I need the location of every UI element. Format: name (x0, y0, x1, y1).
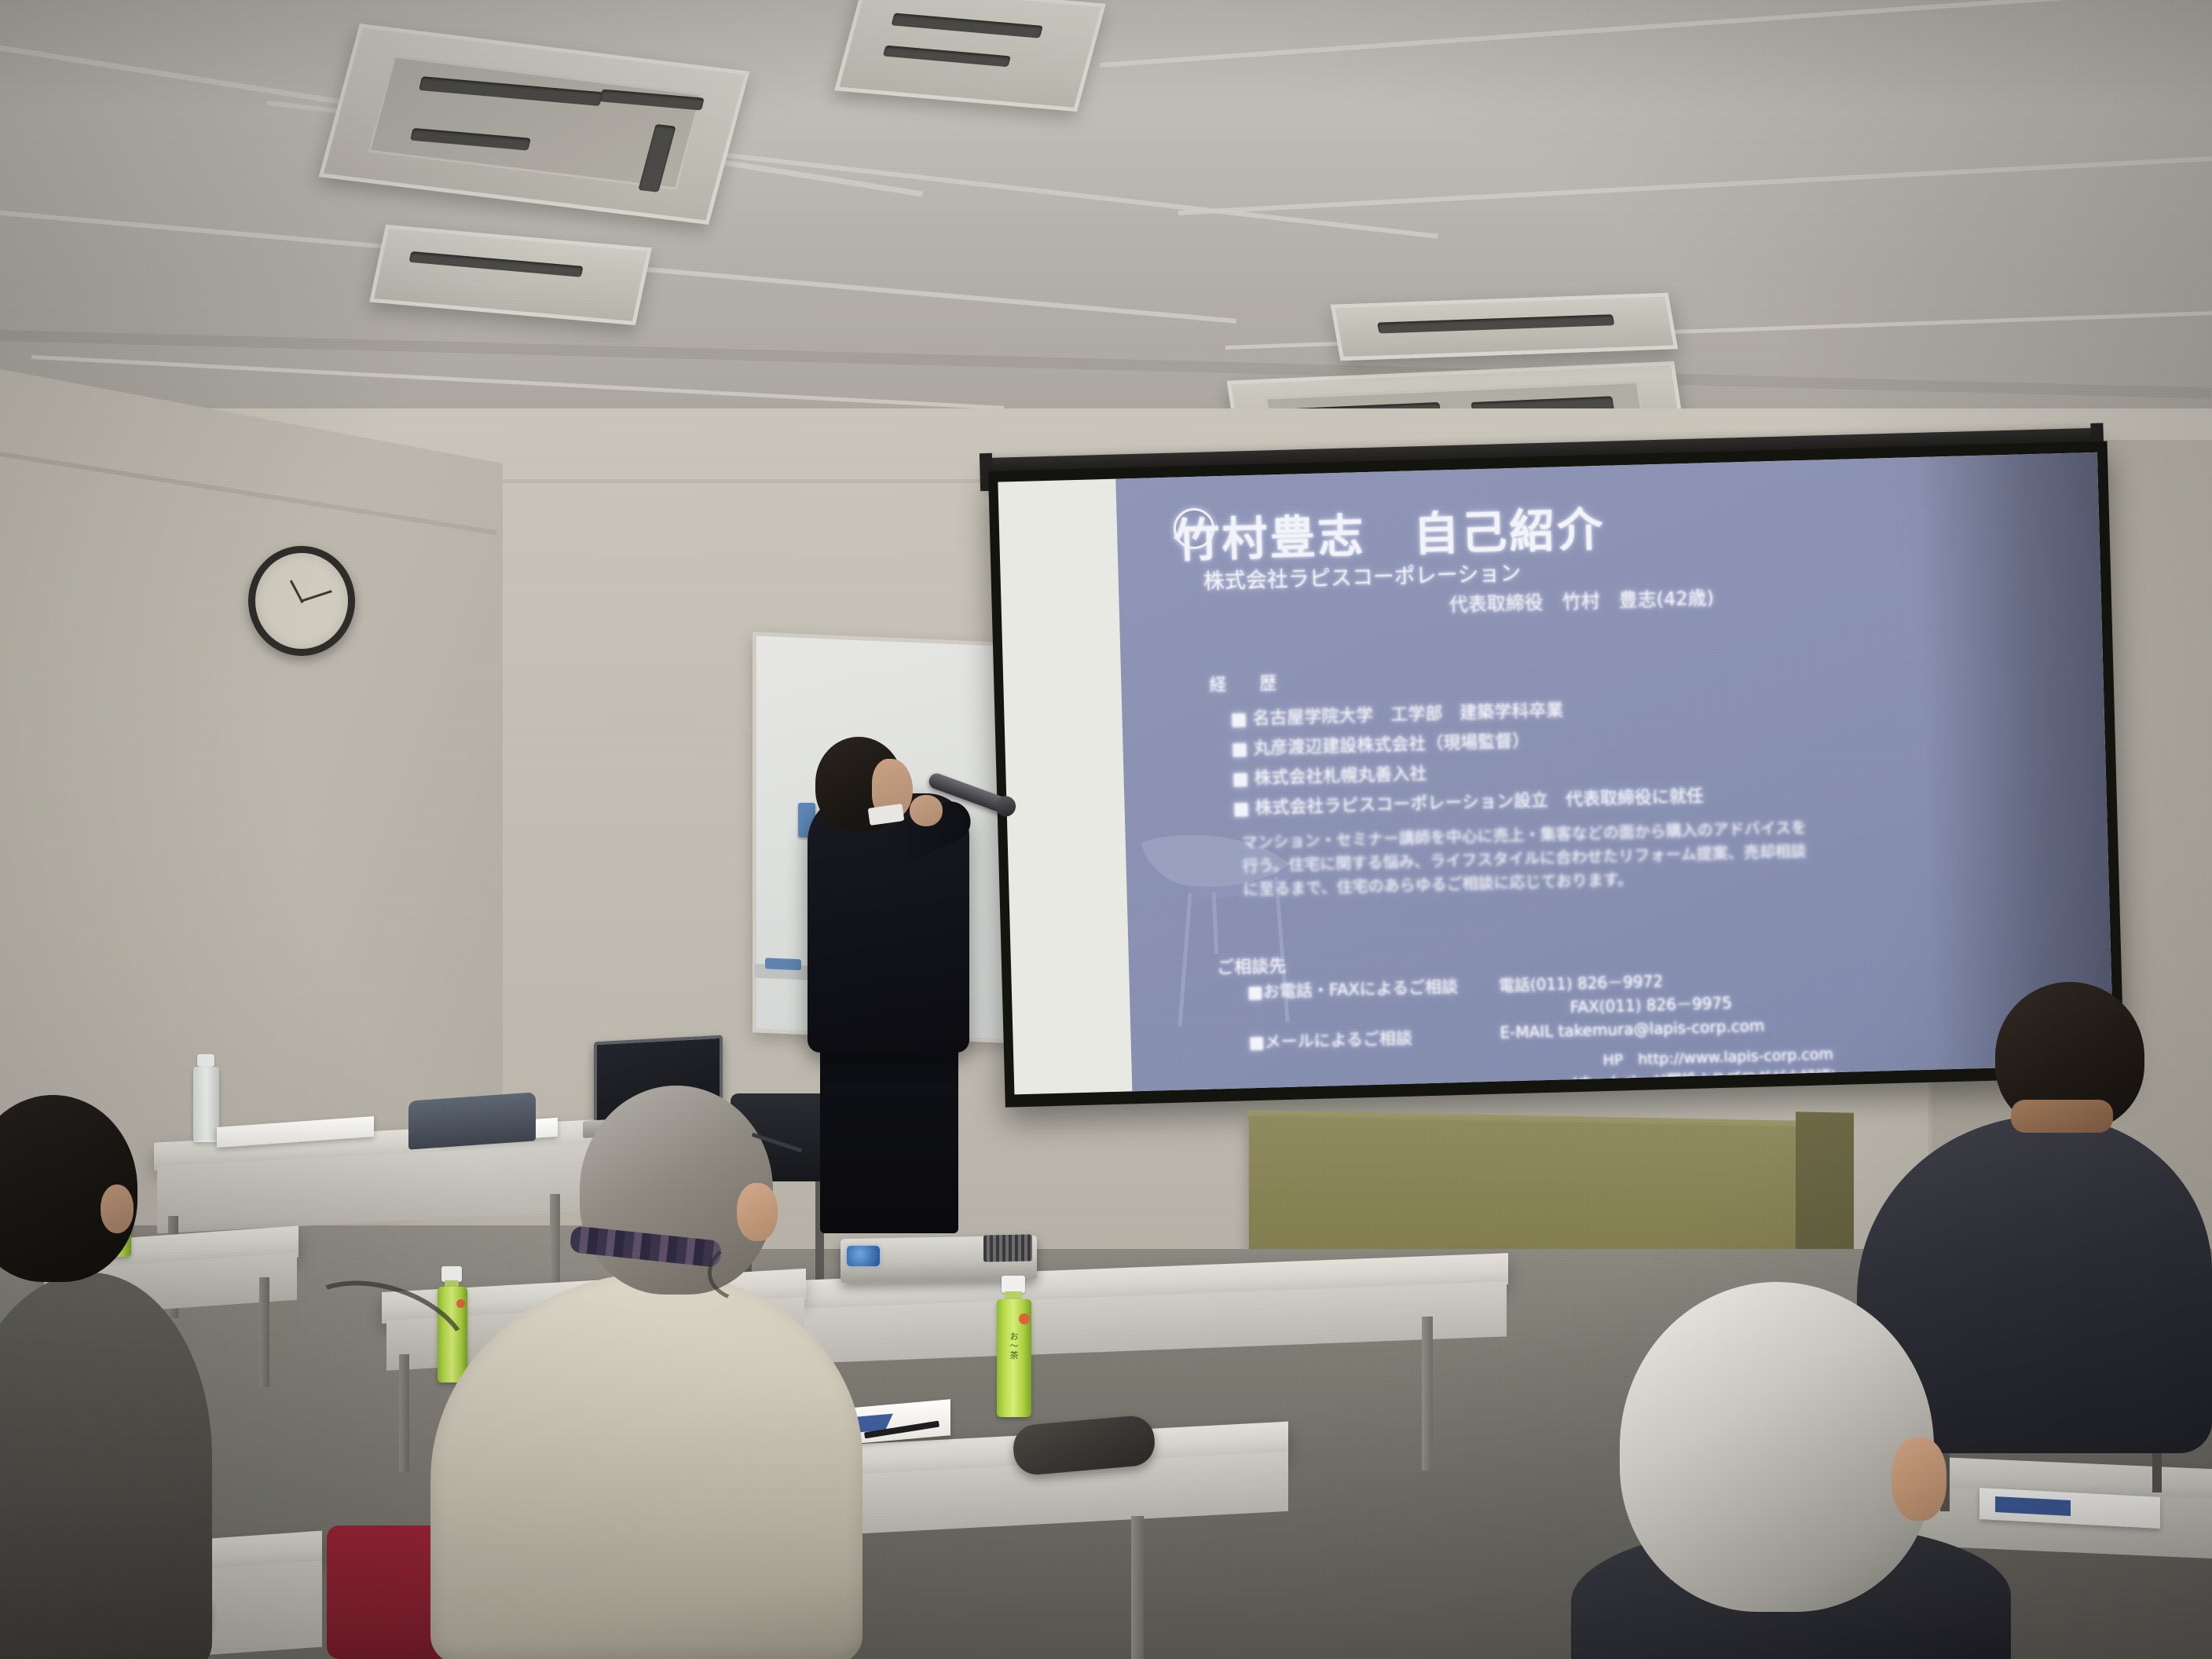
wall-clock (248, 546, 355, 656)
career-item: ■ 名古屋学院大学 工学部 建築学科卒業 (1230, 696, 1563, 730)
ceiling-ac-unit-5 (1331, 293, 1678, 361)
presenter-chair[interactable] (408, 1092, 536, 1149)
career-item: ■ 丸彦渡辺建設株式会社（現場監督） (1231, 727, 1530, 760)
ceiling-ac-unit-1 (319, 24, 750, 225)
desk-leg (1422, 1317, 1433, 1470)
presenter-hand (910, 795, 943, 826)
ceiling-ac-unit-2 (834, 0, 1106, 112)
slide-title: 竹村豊志 自己紹介 (1173, 493, 1606, 570)
attendee-neck (2011, 1100, 2113, 1133)
ceiling-ac-unit-3 (369, 225, 652, 325)
slide-shadow-overlay (1917, 452, 2114, 1070)
contact-value: 電話(011) 826－9972 (1499, 969, 1664, 996)
contact-value: FAX(011) 826－9975 (1569, 991, 1732, 1018)
attendee-head (1620, 1282, 1934, 1612)
contact-label: ■メールによるご相談 (1248, 1026, 1412, 1054)
desk-leg (259, 1277, 269, 1387)
projection-screen: 竹村豊志 自己紹介 株式会社ラピスコーポレーション 代表取締役 竹村 豊志(42… (988, 441, 2124, 1107)
attendee-ear (101, 1185, 134, 1233)
slide-career-heading: 経 歴 (1209, 669, 1285, 697)
attendee-ear (1892, 1437, 1946, 1521)
contact-label: ■お電話・FAXによるご相談 (1247, 974, 1459, 1003)
marker-blue (765, 958, 801, 970)
projector-vent (983, 1234, 1032, 1262)
slide-contact-heading: ご相談先 (1217, 952, 1287, 979)
presentation-slide: 竹村豊志 自己紹介 株式会社ラピスコーポレーション 代表取締役 竹村 豊志(42… (1115, 452, 2114, 1092)
scene-root: 竹村豊志 自己紹介 株式会社ラピスコーポレーション 代表取締役 竹村 豊志(42… (0, 0, 2212, 1659)
slide-paragraph: マンション・セミナー講師を中心に売上・集客などの面から購入のアドバイスを行う。住… (1241, 815, 1808, 901)
projection-screen-surface: 竹村豊志 自己紹介 株式会社ラピスコーポレーション 代表取締役 竹村 豊志(42… (998, 452, 2114, 1095)
contact-value: E-MAIL takemura@lapis-corp.com (1500, 1016, 1765, 1042)
presenter-legs (820, 1037, 958, 1233)
projector-lens (847, 1246, 880, 1266)
desk-leg (1131, 1516, 1144, 1659)
career-item: ■ 株式会社札幌丸善入社 (1232, 760, 1427, 790)
